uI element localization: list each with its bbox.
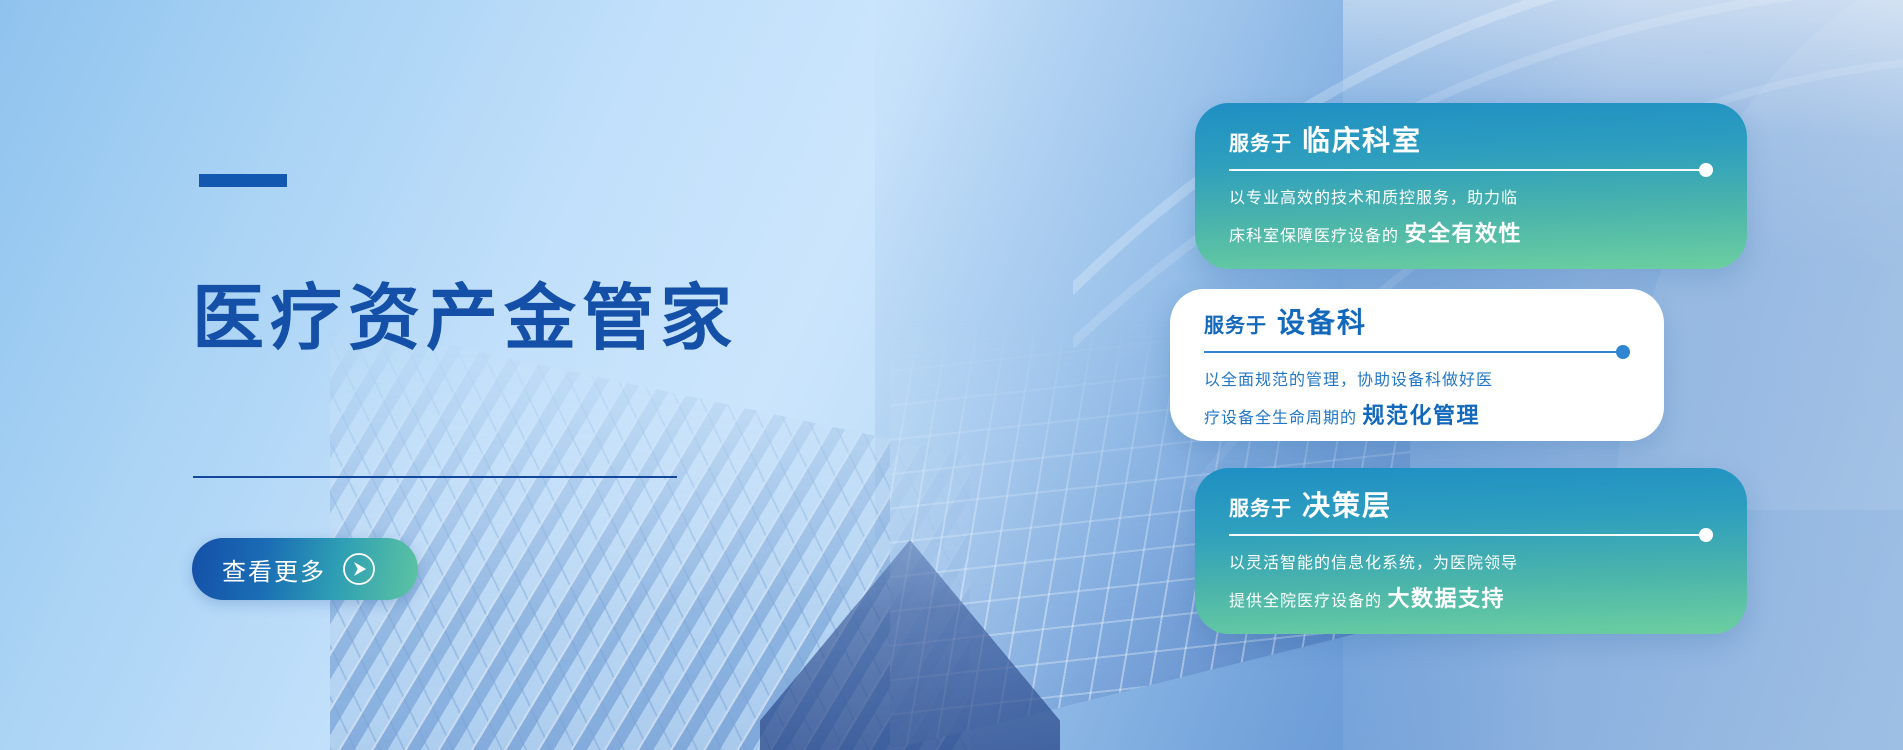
divider-dot — [1616, 345, 1630, 359]
description-line-1: 以专业高效的技术和质控服务，助力临 — [1229, 190, 1518, 207]
divider-line — [1229, 169, 1701, 171]
service-card-divider — [1229, 169, 1713, 171]
description-line-1: 以灵活智能的信息化系统，为医院领导 — [1229, 555, 1518, 572]
divider-dot — [1699, 528, 1713, 542]
accent-bar — [199, 174, 287, 187]
service-card-title: 服务于 临床科室 — [1229, 127, 1713, 155]
description-highlight: 大数据支持 — [1387, 586, 1505, 611]
service-card-target: 决策层 — [1302, 492, 1392, 520]
service-card-description: 以专业高效的技术和质控服务，助力临 床科室保障医疗设备的 安全有效性 — [1229, 185, 1713, 254]
service-card-clinical[interactable]: 服务于 临床科室 以专业高效的技术和质控服务，助力临 床科室保障医疗设备的 安全… — [1195, 103, 1747, 269]
description-line-2-plain: 疗设备全生命周期的 — [1204, 410, 1357, 427]
description-line-2-plain: 提供全院医疗设备的 — [1229, 593, 1382, 610]
hero-banner: 医疗资产金管家 查看更多 服务于 临床科室 以专业高效的技术和质控服务，助力临 … — [0, 0, 1903, 750]
service-card-description: 以全面规范的管理，协助设备科做好医 疗设备全生命周期的 规范化管理 — [1204, 367, 1630, 436]
divider-dot — [1699, 163, 1713, 177]
view-more-button[interactable]: 查看更多 — [192, 538, 418, 600]
description-highlight: 规范化管理 — [1362, 403, 1480, 428]
service-card-target: 临床科室 — [1302, 127, 1422, 155]
view-more-label: 查看更多 — [222, 552, 326, 587]
circle-arrow-right-icon — [342, 552, 376, 586]
building-facade-left — [330, 320, 970, 750]
service-card-decision[interactable]: 服务于 决策层 以灵活智能的信息化系统，为医院领导 提供全院医疗设备的 大数据支… — [1195, 468, 1747, 634]
service-card-title: 服务于 设备科 — [1204, 309, 1630, 337]
service-card-divider — [1229, 534, 1713, 536]
building-apex — [760, 540, 1060, 750]
divider-line — [1229, 534, 1701, 536]
service-card-prefix: 服务于 — [1229, 499, 1292, 519]
description-line-2: 提供全院医疗设备的 大数据支持 — [1229, 580, 1713, 619]
service-card-title: 服务于 决策层 — [1229, 492, 1713, 520]
service-card-target: 设备科 — [1277, 309, 1367, 337]
description-line-1: 以全面规范的管理，协助设备科做好医 — [1204, 372, 1493, 389]
service-card-equipment[interactable]: 服务于 设备科 以全面规范的管理，协助设备科做好医 疗设备全生命周期的 规范化管… — [1170, 289, 1664, 441]
page-title: 医疗资产金管家 — [192, 283, 738, 355]
divider-line — [1204, 351, 1618, 353]
divider-rule — [193, 476, 677, 478]
description-line-2: 疗设备全生命周期的 规范化管理 — [1204, 397, 1630, 436]
service-card-prefix: 服务于 — [1204, 316, 1267, 336]
description-highlight: 安全有效性 — [1404, 221, 1522, 246]
description-line-2-plain: 床科室保障医疗设备的 — [1229, 228, 1399, 245]
description-line-2: 床科室保障医疗设备的 安全有效性 — [1229, 215, 1713, 254]
service-card-prefix: 服务于 — [1229, 134, 1292, 154]
service-card-description: 以灵活智能的信息化系统，为医院领导 提供全院医疗设备的 大数据支持 — [1229, 550, 1713, 619]
service-card-divider — [1204, 351, 1630, 353]
